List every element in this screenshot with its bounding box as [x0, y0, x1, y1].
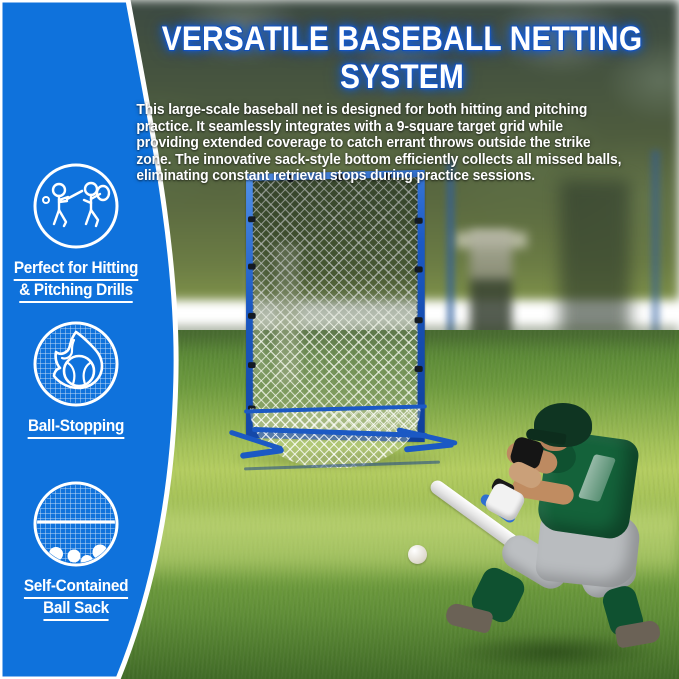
net-clip [248, 362, 256, 368]
background-dark-panel [560, 180, 630, 340]
baseball-batter [430, 395, 679, 679]
feature-ball-sack: Self-Contained Ball Sack [0, 478, 152, 621]
net-clip [248, 313, 256, 319]
net-clip [415, 366, 423, 372]
page-title: VERSATILE BASEBALL NETTING SYSTEM [158, 20, 646, 96]
header-block: VERSATILE BASEBALL NETTING SYSTEM This l… [125, 20, 679, 185]
feature-label-3-line1: Self-Contained [24, 577, 128, 599]
net-clip [248, 264, 256, 270]
baseball [408, 545, 427, 564]
net-clip [415, 266, 423, 272]
page-description: This large-scale baseball net is designe… [125, 102, 651, 185]
batter-and-pitcher-icon [30, 160, 122, 252]
feature-label-1-line1: Perfect for Hitting [14, 259, 138, 281]
net-with-balls-icon [30, 478, 122, 570]
net-clip [248, 216, 256, 222]
flaming-baseball-on-net-icon [30, 318, 122, 410]
product-infographic: Perfect for Hitting & Pitching Drills [0, 0, 679, 679]
feature-label-3-line2: Ball Sack [43, 599, 109, 621]
baseball-net-product [228, 172, 458, 472]
feature-label-2-line1: Ball-Stopping [28, 417, 124, 439]
feature-label-2: Ball-Stopping [5, 417, 146, 439]
feature-ball-stopping: Ball-Stopping [0, 318, 152, 439]
net-clip [415, 317, 423, 323]
net-clip [415, 218, 423, 224]
net-frame [246, 170, 425, 442]
feature-label-1: Perfect for Hitting & Pitching Drills [5, 259, 146, 303]
feature-label-1-line2: & Pitching Drills [19, 281, 133, 303]
feature-label-3: Self-Contained Ball Sack [5, 577, 146, 621]
net-shading [253, 177, 418, 435]
